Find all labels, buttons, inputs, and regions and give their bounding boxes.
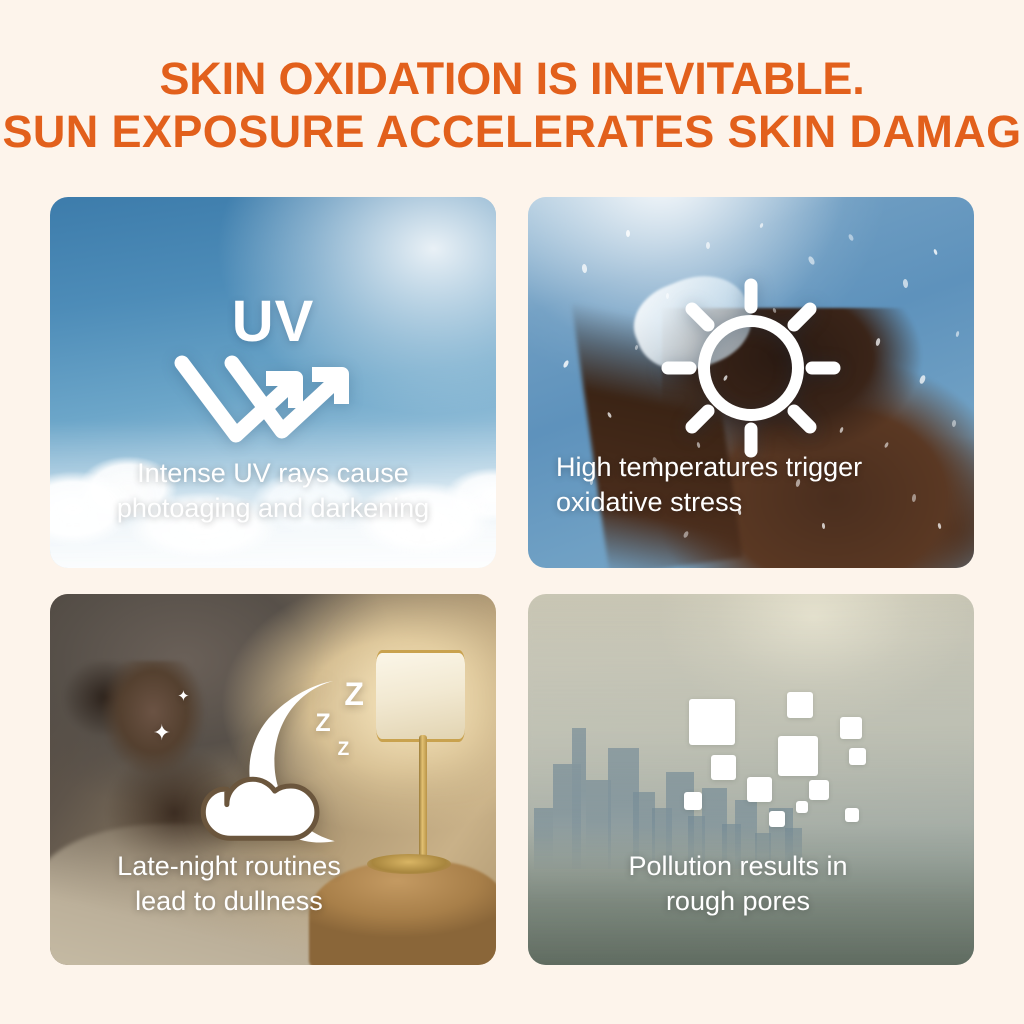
caption-line-1: Late-night routines [74, 849, 384, 884]
card-heat-caption: High temperatures trigger oxidative stre… [556, 450, 946, 520]
card-late-night-caption: Late-night routines lead to dullness [74, 849, 384, 919]
star-icon-small: ✦ [177, 689, 190, 704]
card-uv-caption: Intense UV rays cause photoaging and dar… [66, 456, 480, 526]
card-heat[interactable]: High temperatures trigger oxidative stre… [528, 197, 974, 568]
caption-line-1: High temperatures trigger [556, 450, 946, 485]
card-pollution[interactable]: Pollution results in rough pores [528, 594, 974, 965]
card-late-night[interactable]: ✦ ✦ Z Z Z Late-night routines lead to du… [50, 594, 496, 965]
caption-line-2: photoaging and darkening [66, 491, 480, 526]
caption-line-1: Pollution results in [562, 849, 914, 884]
headline-line-2: SUN EXPOSURE ACCELERATES SKIN DAMAG [0, 105, 1024, 158]
sun-icon [658, 275, 844, 461]
uv-rays-icon: UV [163, 293, 383, 462]
uv-icon-label: UV [163, 293, 383, 351]
caption-line-2: oxidative stress [556, 485, 946, 520]
sleep-z-icon-medium: Z [315, 709, 330, 738]
sleep-z-icon-small: Z [338, 739, 350, 761]
sleep-z-icon-large: Z [344, 676, 364, 713]
lamp-shade [376, 650, 465, 743]
lamp-stem [419, 735, 427, 861]
caption-line-2: lead to dullness [74, 884, 384, 919]
headline-line-1: SKIN OXIDATION IS INEVITABLE. [0, 52, 1024, 105]
card-pollution-caption: Pollution results in rough pores [562, 849, 914, 919]
caption-line-2: rough pores [562, 884, 914, 919]
star-icon-large: ✦ [153, 722, 171, 744]
card-uv[interactable]: UV Intense UV rays cause photoaging and … [50, 197, 496, 568]
page-title: SKIN OXIDATION IS INEVITABLE. SUN EXPOSU… [0, 52, 1024, 158]
uv-arrow-glyph [170, 353, 376, 457]
benefit-card-grid: UV Intense UV rays cause photoaging and … [50, 197, 974, 959]
caption-line-1: Intense UV rays cause [66, 456, 480, 491]
particle-squares-icon [680, 683, 903, 839]
